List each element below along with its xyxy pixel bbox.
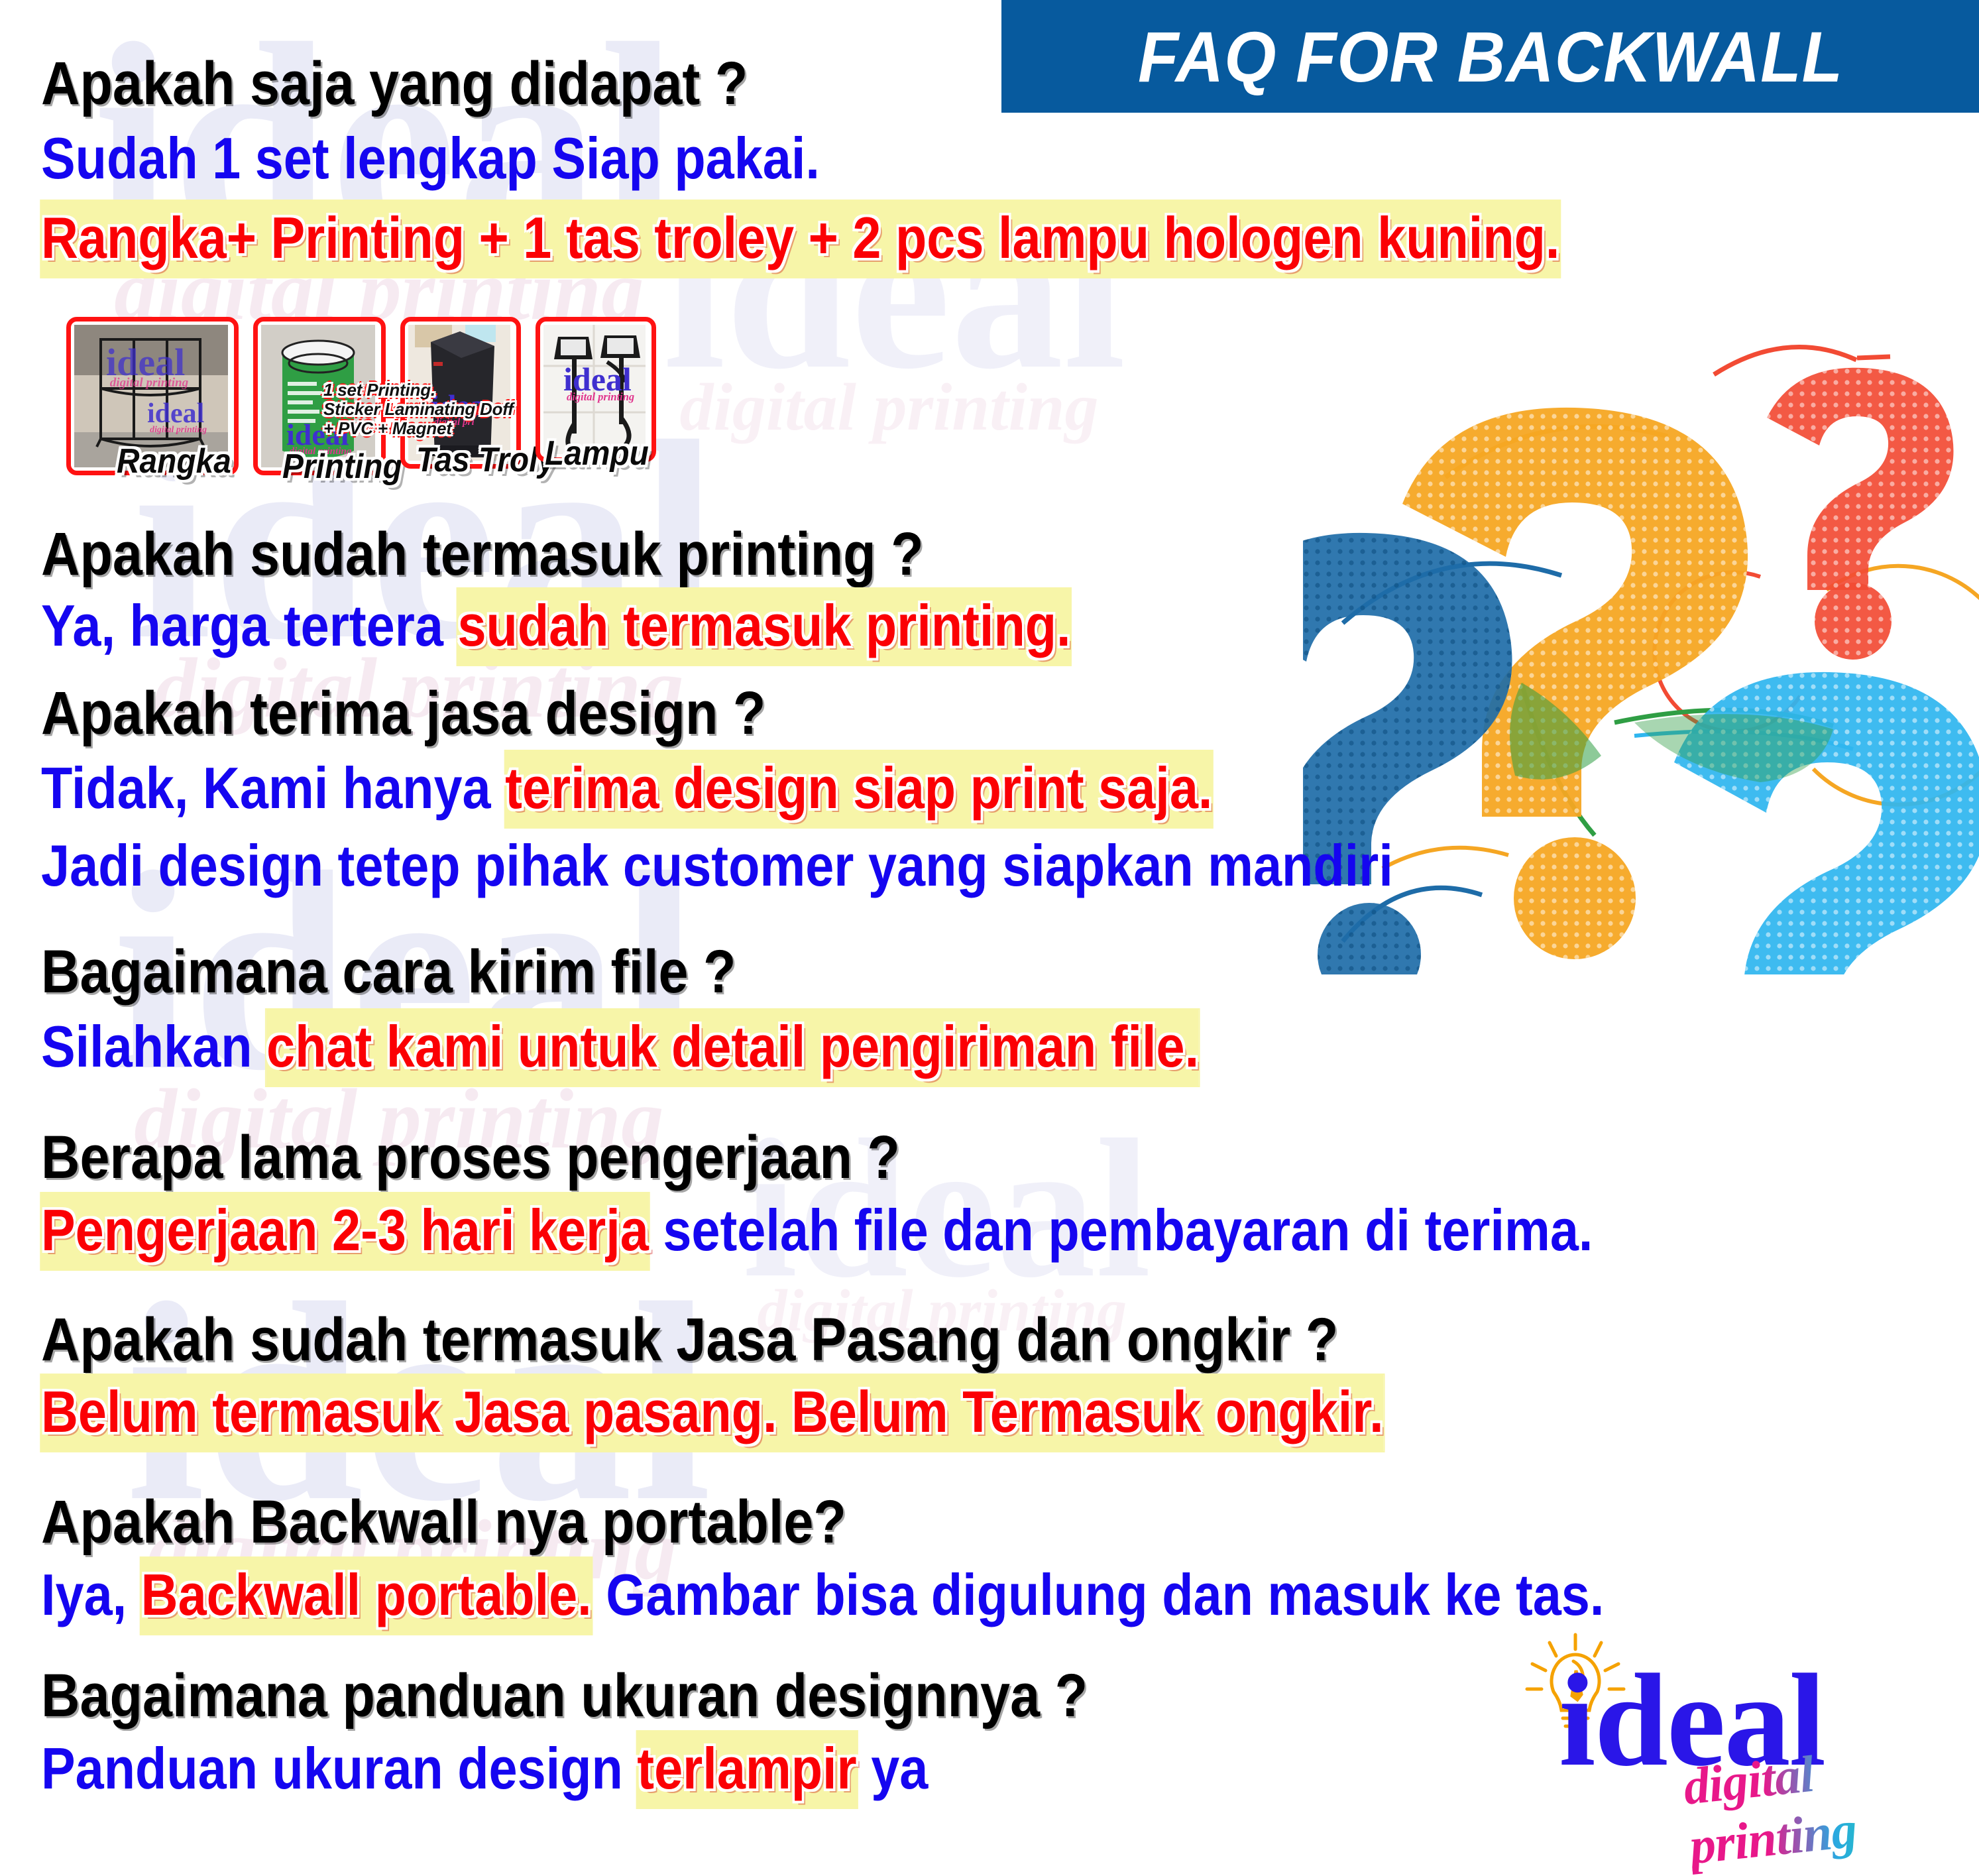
question-marks-graphic: [1303, 312, 1979, 974]
faq-question-3: Apakah terima jasa design ?: [41, 683, 765, 744]
product-thumb-printing[interactable]: idealdigital printing 1 set Printing. St…: [253, 317, 386, 475]
faq-question-4: Bagaimana cara kirim file ?: [41, 941, 736, 1002]
faq-question-6: Apakah sudah termasuk Jasa Pasang dan on…: [41, 1309, 1338, 1370]
printing-callout: 1 set Printing. Sticker Laminating Doff …: [323, 381, 522, 438]
product-label: Rangka: [117, 441, 231, 481]
product-label: Lampu: [545, 434, 649, 473]
brand-logo: ideal digital printing: [1512, 1620, 1950, 1812]
header-banner: FAQ FOR BACKWALL: [1001, 0, 1979, 113]
faq-answer-1-line1: Sudah 1 set lengkap Siap pakai.: [41, 129, 820, 188]
faq-answer-3-line2: Jadi design tetep pihak customer yang si…: [41, 837, 1393, 895]
faq-answer-4: Silahkan chat kami untuk detail pengirim…: [41, 1018, 1199, 1076]
faq-answer-1-line2: Rangka+ Printing + 1 tas troley + 2 pcs …: [41, 209, 1559, 267]
faq-question-1: Apakah saja yang didapat ?: [41, 53, 748, 114]
faq-answer-2: Ya, harga tertera sudah termasuk printin…: [41, 597, 1071, 655]
faq-question-8: Bagaimana panduan ukuran designnya ?: [41, 1665, 1088, 1726]
faq-answer-8: Panduan ukuran design terlampir ya: [41, 1739, 928, 1798]
faq-answer-3-line1: Tidak, Kami hanya terima design siap pri…: [41, 759, 1212, 817]
faq-answer-6: Belum termasuk Jasa pasang. Belum Termas…: [41, 1383, 1384, 1441]
faq-question-7: Apakah Backwall nya portable?: [41, 1492, 846, 1553]
product-label: Tas Troly: [416, 440, 555, 480]
product-thumb-lampu[interactable]: idealdigital printing Lampu: [536, 317, 656, 462]
faq-answer-5: Pengerjaan 2-3 hari kerja setelah file d…: [41, 1201, 1593, 1260]
product-thumbnail-strip: idealdigital printing idealdigital print…: [66, 317, 671, 475]
page-title: FAQ FOR BACKWALL: [1138, 15, 1843, 98]
faq-answer-7: Iya, Backwall portable. Gambar bisa digu…: [41, 1566, 1604, 1624]
product-label: Printing: [282, 447, 402, 487]
product-thumb-rangka[interactable]: idealdigital printing idealdigital print…: [66, 317, 239, 475]
faq-question-2: Apakah sudah termasuk printing ?: [41, 524, 924, 585]
faq-question-5: Berapa lama proses pengerjaan ?: [41, 1127, 900, 1188]
